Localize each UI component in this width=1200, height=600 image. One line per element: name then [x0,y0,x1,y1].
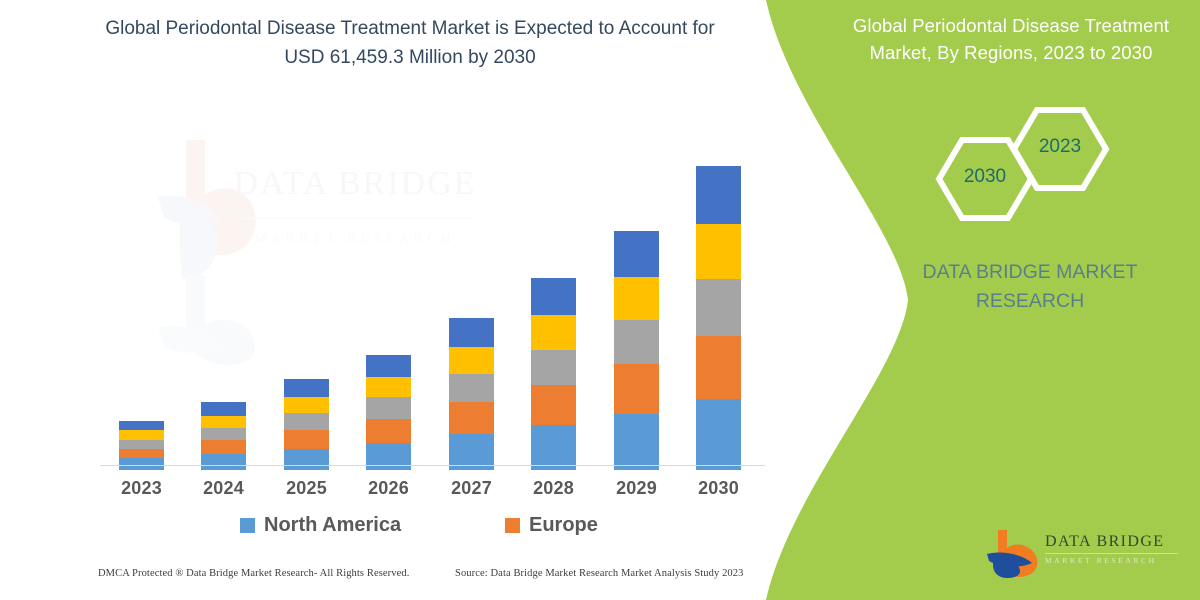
bar-segment-2024-north-america [201,454,246,470]
x-axis-tick-2023: 2023 [102,478,182,499]
brand-logo-divider [1045,553,1178,554]
legend-swatch-europe [505,518,520,533]
bar-segment-2029-series-5 [614,231,659,277]
bar-chart-plot-area [100,140,760,470]
bar-segment-2029-series-3 [614,320,659,365]
bar-2027[interactable] [449,318,494,470]
panel-brand-text: DATA BRIDGE MARKET RESEARCH [880,258,1180,316]
legend-item-north-america[interactable]: North America [240,514,401,537]
bar-segment-2025-series-3 [284,413,329,430]
brand-logo-subtitle: MARKET RESEARCH [1045,556,1185,565]
bar-2026[interactable] [366,355,411,470]
bar-2023[interactable] [119,421,164,470]
bar-segment-2030-series-5 [696,166,741,225]
infographic-canvas: Global Periodontal Disease Treatment Mar… [0,0,1200,600]
bar-segment-2027-series-5 [449,318,494,347]
legend-label-north-america: North America [264,514,401,537]
bar-segment-2023-series-5 [119,421,164,431]
bar-2028[interactable] [531,278,576,470]
bar-segment-2024-series-3 [201,428,246,440]
data-bridge-b-mark-icon [985,528,1043,578]
bar-2029[interactable] [614,231,659,470]
bar-segment-2028-series-4 [531,315,576,350]
bar-2024[interactable] [201,402,246,470]
x-axis-tick-2026: 2026 [349,478,429,499]
brand-logo-text: DATA BRIDGE MARKET RESEARCH [1045,533,1185,565]
bar-segment-2029-series-4 [614,277,659,320]
bar-segment-2028-north-america [531,425,576,470]
bar-segment-2026-series-4 [366,377,411,398]
bar-segment-2028-series-3 [531,350,576,385]
bar-segment-2030-series-3 [696,279,741,336]
bar-segment-2030-north-america [696,399,741,470]
bar-segment-2025-europe [284,430,329,449]
bar-segment-2026-series-3 [366,397,411,418]
footer-source-note: Source: Data Bridge Market Research Mark… [455,568,743,579]
bar-segment-2026-europe [366,419,411,443]
bar-segment-2023-series-3 [119,440,164,449]
legend-swatch-north-america [240,518,255,533]
bar-segment-2030-europe [696,336,741,400]
bar-segment-2023-series-4 [119,430,164,439]
brand-logo-title: DATA BRIDGE [1045,533,1185,551]
bar-segment-2029-europe [614,364,659,414]
x-axis-tick-2030: 2030 [679,478,759,499]
footer-dmca-notice: DMCA Protected ® Data Bridge Market Rese… [98,568,409,579]
panel-title: Global Periodontal Disease Treatment Mar… [828,12,1194,66]
bar-segment-2024-series-5 [201,402,246,415]
bar-segment-2027-europe [449,402,494,433]
x-axis-tick-2027: 2027 [432,478,512,499]
bar-segment-2025-series-5 [284,379,329,396]
bar-segment-2026-series-5 [366,355,411,377]
bar-segment-2027-series-4 [449,347,494,374]
chart-legend: North America Europe [110,512,730,540]
bar-2025[interactable] [284,379,329,470]
bar-segment-2024-series-4 [201,416,246,428]
page-title: Global Periodontal Disease Treatment Mar… [105,14,715,72]
hexagon-badge-2023: 2023 [1010,105,1110,193]
x-axis-tick-2025: 2025 [267,478,347,499]
bar-segment-2027-series-3 [449,374,494,402]
bar-segment-2028-europe [531,385,576,425]
legend-item-europe[interactable]: Europe [505,514,598,537]
bar-segment-2028-series-5 [531,278,576,315]
bar-2030[interactable] [696,166,741,470]
bar-segment-2024-europe [201,440,246,454]
bar-segment-2025-north-america [284,449,329,470]
brand-logo: DATA BRIDGE MARKET RESEARCH [985,528,1185,580]
bar-segment-2023-europe [119,449,164,459]
bar-segment-2030-series-4 [696,224,741,278]
bar-segment-2025-series-4 [284,397,329,414]
hexagon-label-2023: 2023 [1010,136,1110,158]
x-axis-line [100,465,765,466]
legend-label-europe: Europe [529,514,598,537]
x-axis-tick-2024: 2024 [184,478,264,499]
bar-segment-2029-north-america [614,414,659,470]
x-axis-tick-2029: 2029 [597,478,677,499]
hexagon-badges: 2030 2023 [925,105,1115,220]
x-axis-tick-2028: 2028 [514,478,594,499]
